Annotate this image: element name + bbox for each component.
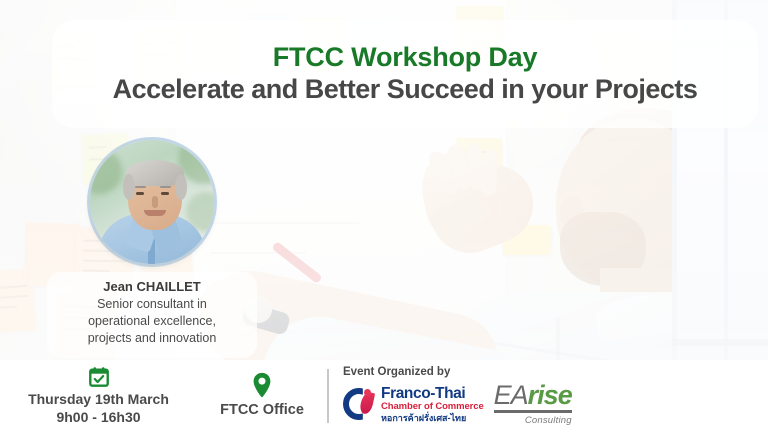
location-block: FTCC Office [197,372,327,419]
franco-thai-subtitle: Chamber of Commerce [381,402,484,412]
event-location: FTCC Office [220,401,304,419]
event-banner: FTCC Workshop Day Accelerate and Better … [0,0,768,432]
title-card: FTCC Workshop Day Accelerate and Better … [52,20,758,128]
organizer-block: Event Organized by Franco-Thai Chamber o… [329,360,572,432]
event-title: FTCC Workshop Day [273,43,538,73]
organizer-label: Event Organized by [343,366,572,378]
organizer-logos: Franco-Thai Chamber of Commerce หอการค้า… [343,382,572,426]
speaker-block: Jean CHAILLET Senior consultant in opera… [47,140,257,358]
speaker-info-card: Jean CHAILLET Senior consultant in opera… [47,272,257,358]
event-time: 9h00 - 16h30 [56,409,140,427]
date-block: Thursday 19th March 9h00 - 16h30 [0,366,197,426]
franco-thai-mark-icon [343,388,375,420]
portrait-ring [87,137,217,267]
franco-thai-thai-text: หอการค้าฝรั่งเศส-ไทย [381,414,484,423]
franco-thai-logo: Franco-Thai Chamber of Commerce หอการค้า… [343,386,484,423]
earise-rise: rise [528,380,572,410]
bottom-info-bar: Thursday 19th March 9h00 - 16h30 FTCC Of… [0,360,768,432]
speaker-role-line-1: Senior consultant in [57,296,247,313]
earise-wordmark: EArise [494,382,572,413]
speaker-role-line-3: projects and innovation [57,330,247,347]
calendar-check-icon [88,366,110,388]
speaker-name: Jean CHAILLET [57,279,247,296]
avatar [90,140,214,264]
speaker-role-line-2: operational excellence, [57,313,247,330]
earise-logo: EArise Consulting [494,382,572,426]
franco-thai-name: Franco-Thai [381,386,484,402]
earise-ea: EA [494,380,528,410]
event-date: Thursday 19th March [28,391,169,409]
earise-tagline: Consulting [525,416,572,426]
event-subtitle: Accelerate and Better Succeed in your Pr… [113,74,698,105]
map-pin-icon [252,372,272,398]
